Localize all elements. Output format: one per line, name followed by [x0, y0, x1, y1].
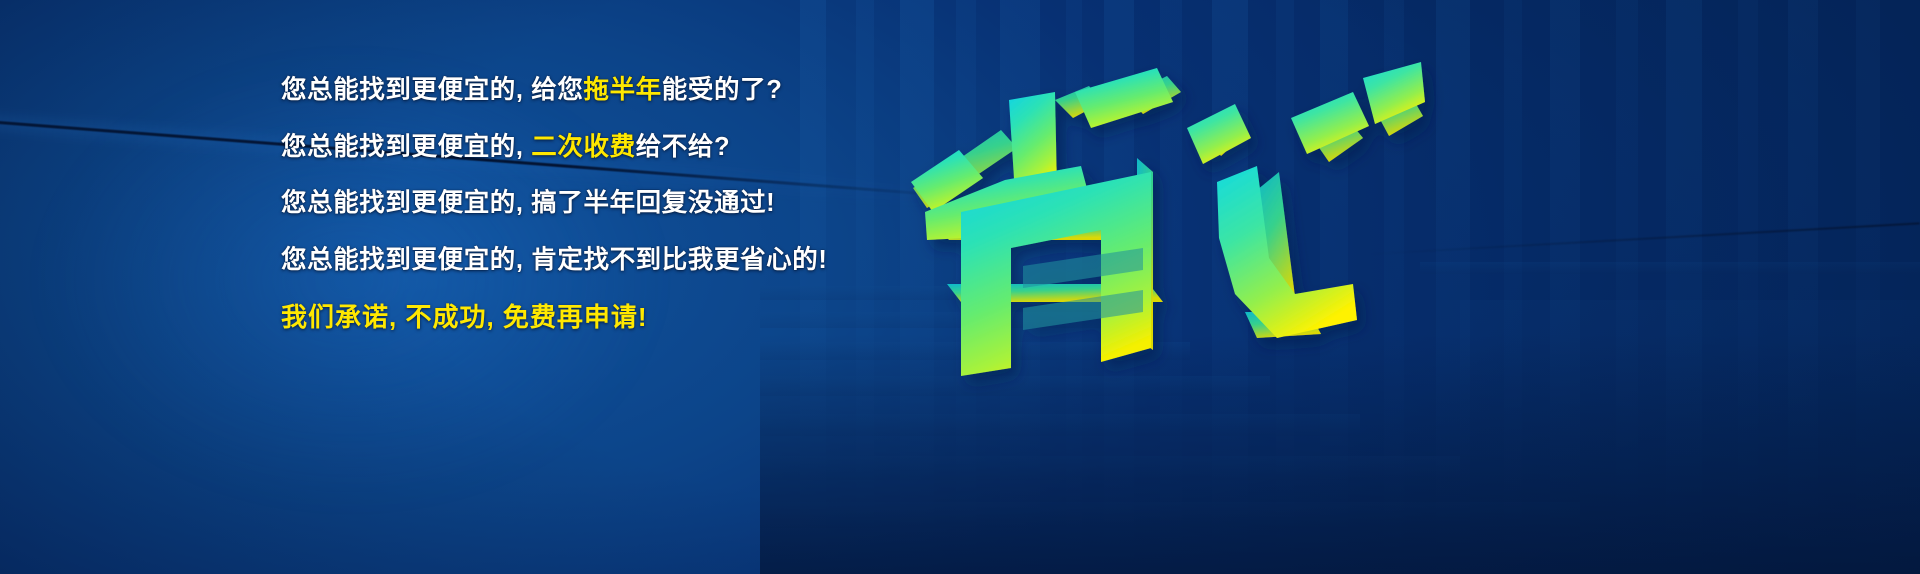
logo-shengxin-3d [905, 62, 1425, 392]
headline-line-3-part-1: 您总能找到更便宜的, 搞了半年回复没通过! [281, 189, 775, 217]
headline-copy: 您总能找到更便宜的, 给您拖半年能受的了? 您总能找到更便宜的, 二次收费给不给… [281, 78, 921, 330]
promise-line: 我们承诺, 不成功, 免费再申请! [281, 304, 921, 330]
headline-line-2: 您总能找到更便宜的, 二次收费给不给? [281, 135, 921, 161]
logo-char-sheng [911, 68, 1181, 376]
headline-line-3: 您总能找到更便宜的, 搞了半年回复没通过! [281, 191, 921, 217]
headline-line-1-part-3: 能受的了? [662, 76, 783, 104]
headline-line-2-part-1: 您总能找到更便宜的, [281, 133, 531, 161]
headline-line-4-part-1: 您总能找到更便宜的, 肯定找不到比我更省心的! [281, 246, 827, 274]
headline-line-2-part-3: 给不给? [636, 133, 730, 161]
headline-line-1: 您总能找到更便宜的, 给您拖半年能受的了? [281, 78, 921, 104]
headline-line-4: 您总能找到更便宜的, 肯定找不到比我更省心的! [281, 248, 921, 274]
headline-line-1-highlight: 拖半年 [583, 76, 661, 104]
headline-line-2-highlight: 二次收费 [531, 133, 635, 161]
logo-char-xin [1187, 62, 1425, 338]
headline-line-1-part-1: 您总能找到更便宜的, 给您 [281, 76, 583, 104]
promo-banner: 您总能找到更便宜的, 给您拖半年能受的了? 您总能找到更便宜的, 二次收费给不给… [0, 0, 1920, 574]
